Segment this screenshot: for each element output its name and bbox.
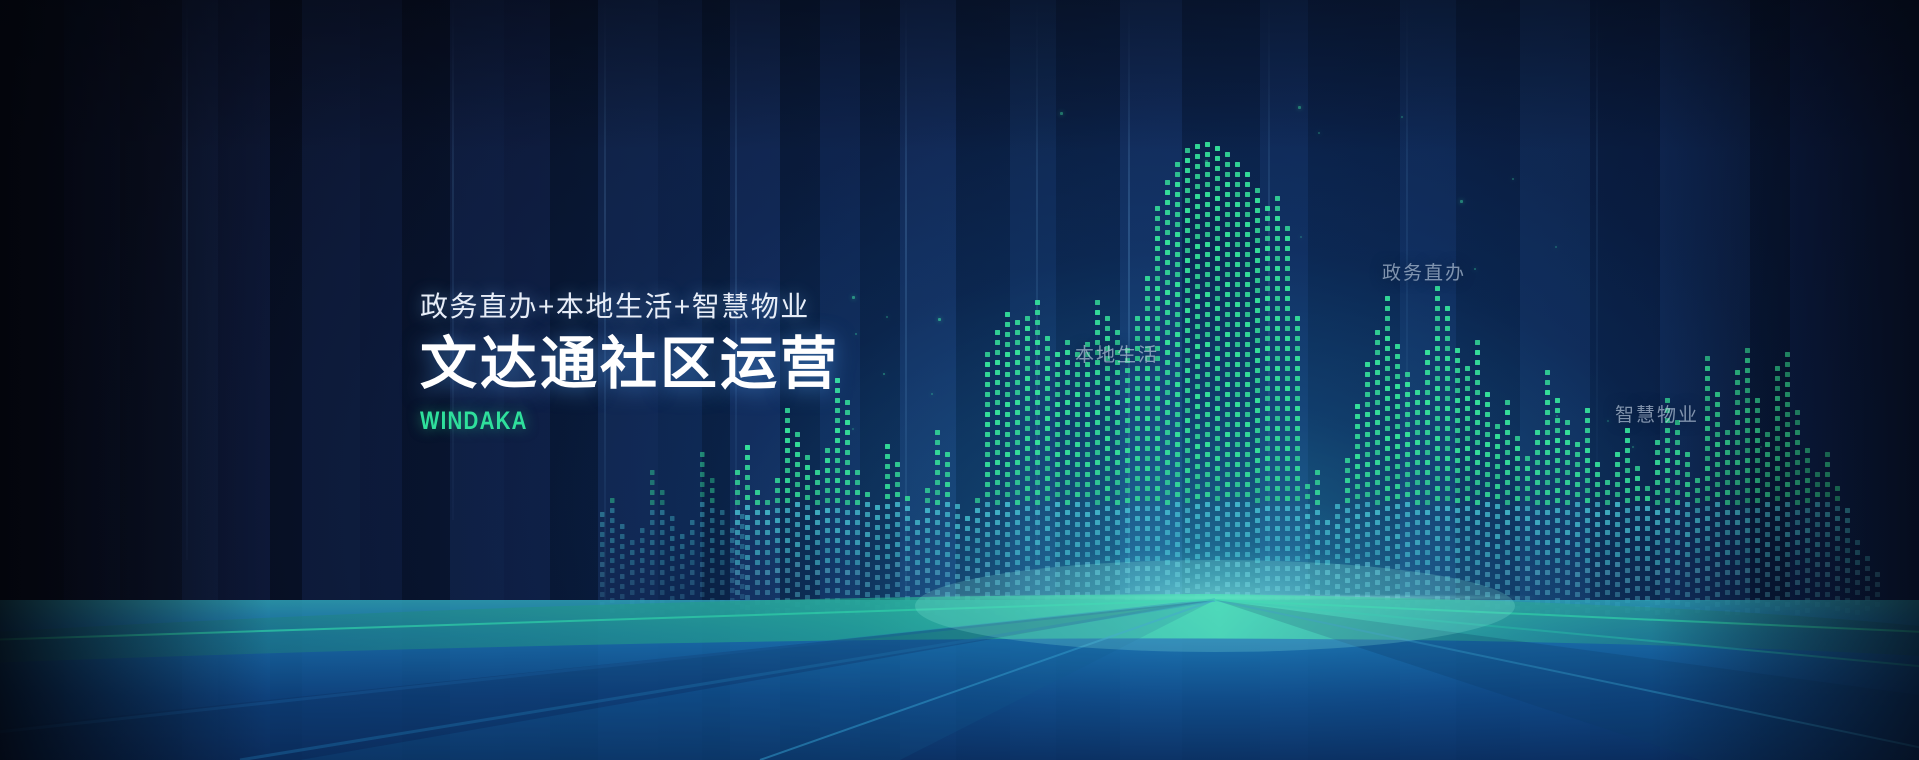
hero-headline: 文达通社区运营 <box>420 334 840 396</box>
hero-banner: 本地生活政务直办智慧物业 政务直办+本地生活+智慧物业 文达通社区运营 WIND… <box>0 0 1919 760</box>
city-label: 本地生活 <box>1075 340 1159 367</box>
perspective-floor-rays <box>0 470 1919 760</box>
hero-tagline: 政务直办+本地生活+智慧物业 <box>420 290 840 324</box>
city-label: 政务直办 <box>1382 258 1466 285</box>
city-label: 智慧物业 <box>1615 400 1699 427</box>
floor-vanishing-glow <box>915 560 1515 652</box>
perspective-floor <box>0 470 1919 760</box>
hero-text-block: 政务直办+本地生活+智慧物业 文达通社区运营 WINDAKA <box>420 290 840 436</box>
brand-wordmark: WINDAKA <box>420 407 764 436</box>
